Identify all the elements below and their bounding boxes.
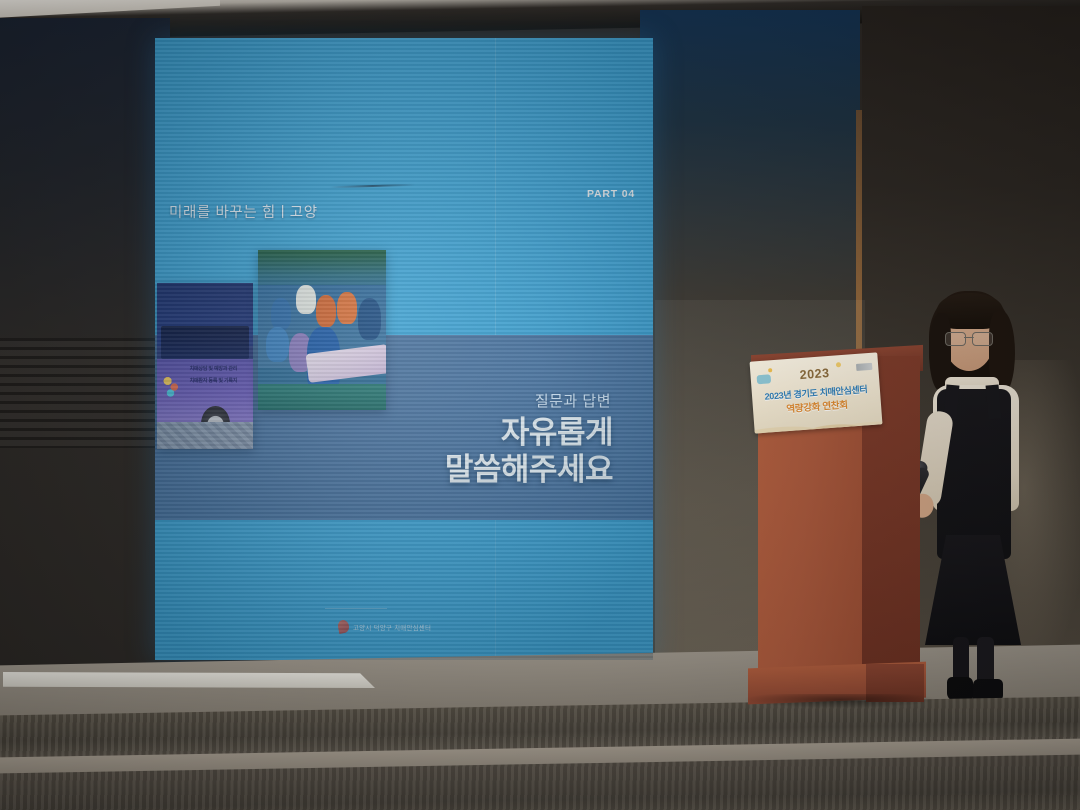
- auditorium-stage-scene: 미래를 바꾸는 힘ㅣ고양 PART 04 치매상담 및 예방과 관리 치매환자 …: [0, 0, 1080, 810]
- glasses-icon: [945, 332, 993, 344]
- ceiling-light-strip: [0, 0, 220, 18]
- presenter: [915, 285, 1035, 705]
- wall-panel-left: [0, 18, 170, 678]
- podium-shadow: [745, 694, 935, 708]
- podium-banner: 2023 2023년 경기도 치매안심센터 역량강화 연찬회: [750, 352, 883, 433]
- glasses-lens-left: [945, 332, 966, 346]
- floor-marking: [3, 672, 375, 688]
- screen-vignette: [155, 38, 653, 660]
- projection-screen: 미래를 바꾸는 힘ㅣ고양 PART 04 치매상담 및 예방과 관리 치매환자 …: [155, 38, 653, 660]
- glasses-lens-right: [972, 332, 993, 346]
- boot-left: [947, 677, 973, 701]
